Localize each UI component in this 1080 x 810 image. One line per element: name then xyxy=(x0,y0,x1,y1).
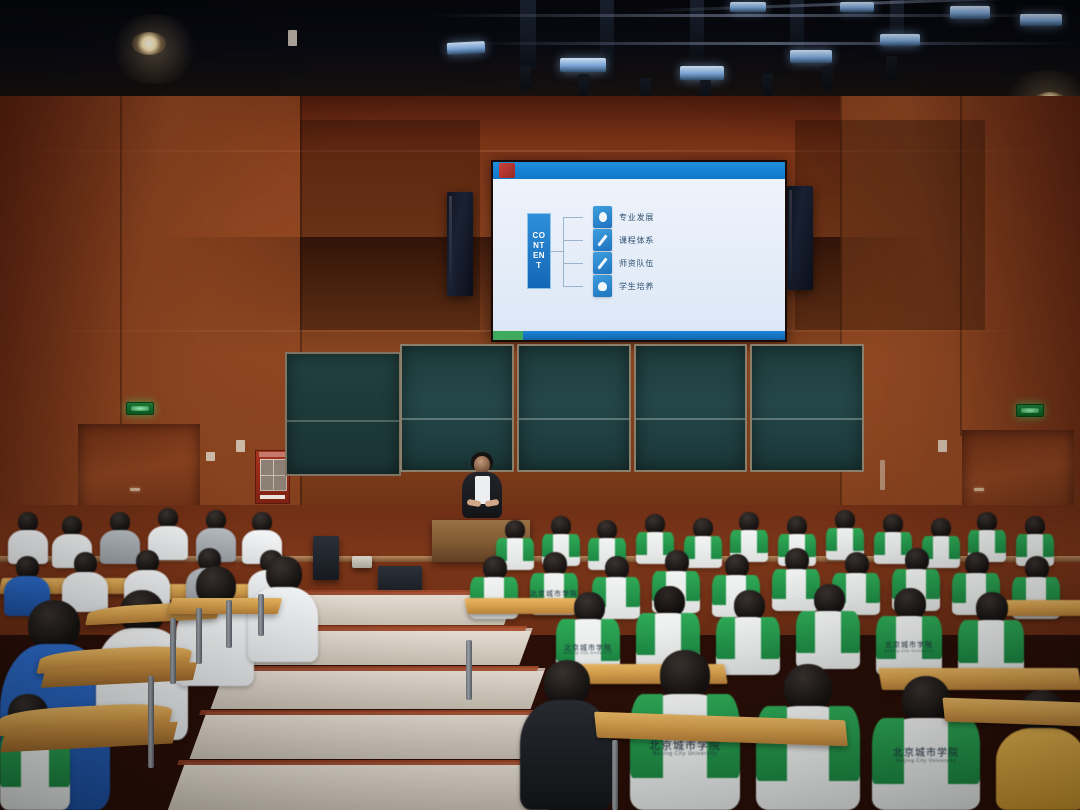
ceiling-beam xyxy=(600,0,614,62)
door-handle-icon xyxy=(974,488,984,491)
head xyxy=(505,520,525,540)
wall-seam xyxy=(120,96,122,436)
head xyxy=(835,510,855,530)
aisle-tile-stripe xyxy=(199,710,549,715)
torso-uniform: 北京城市学院 Beijing City University xyxy=(876,616,942,676)
tree-branch xyxy=(563,286,583,287)
slide-connector-tree xyxy=(551,207,595,295)
tree-branch xyxy=(563,263,583,264)
uniform-print: 北京城市学院 Beijing City University xyxy=(630,740,740,757)
exit-sign-right-icon xyxy=(1016,404,1044,417)
head xyxy=(18,512,38,532)
tree-spine xyxy=(563,217,564,287)
head xyxy=(739,512,759,532)
stage-light xyxy=(730,2,766,12)
head xyxy=(28,600,80,650)
spotlight-can xyxy=(578,74,589,98)
aisle-step xyxy=(167,762,566,810)
ceiling-fixture xyxy=(288,30,297,46)
audience-member: 北京城市学院 Beijing City University xyxy=(876,588,942,678)
chalkboard-left xyxy=(285,352,401,476)
uniform-print: 北京城市学院 Beijing City University xyxy=(872,749,980,764)
content-tab-label: CONTENT xyxy=(533,231,546,271)
stage-light xyxy=(880,34,920,46)
spotlight-can xyxy=(822,66,833,90)
torso-uniform: 北京城市学院 Beijing City University xyxy=(872,718,980,810)
slide-item-label: 师资队伍 xyxy=(619,258,654,269)
slide-item-label: 学生培养 xyxy=(619,281,654,292)
wall-switch-plate xyxy=(236,440,245,452)
uniform-name-en: Beijing City University xyxy=(876,650,942,654)
spotlight-can xyxy=(762,74,773,98)
tree-branch xyxy=(563,217,583,218)
pen-icon xyxy=(593,229,612,251)
door-handle-icon xyxy=(130,488,140,491)
slide-item-1: 课程体系 xyxy=(593,229,654,251)
uniform-print: 北京城市学院 Beijing City University xyxy=(556,645,620,656)
desk-leg xyxy=(148,676,154,768)
cabinet-handle xyxy=(260,495,285,499)
desk xyxy=(942,698,1080,727)
slide-content-tab: CONTENT xyxy=(527,213,551,289)
audience-member: 北京城市学院 Beijing City University xyxy=(872,676,980,810)
head xyxy=(597,520,617,540)
slide-body: CONTENT 专业发展 课程体系 xyxy=(493,179,785,331)
cabinet-label xyxy=(259,452,286,457)
tree-branch xyxy=(563,240,583,241)
head xyxy=(787,516,807,536)
head xyxy=(784,664,832,712)
aisle-tile-stripe xyxy=(177,760,557,765)
uniform-name-en: Beijing City University xyxy=(872,760,980,765)
desk xyxy=(168,598,283,614)
head xyxy=(693,518,713,538)
desk-leg xyxy=(466,640,472,700)
pen-icon xyxy=(593,252,612,274)
uniform-name-en: Beijing City University xyxy=(630,752,740,757)
projection-screen-frame: CONTENT 专业发展 课程体系 xyxy=(491,160,787,342)
slide-logo-icon xyxy=(499,163,515,178)
aisle-step xyxy=(211,668,546,709)
head xyxy=(252,512,272,532)
slide-header-band xyxy=(493,162,785,179)
uniform-name-en: Beijing City University xyxy=(556,652,620,656)
chalkboard-panel xyxy=(750,344,864,472)
slide-item-label: 课程体系 xyxy=(619,235,654,246)
cabinet-window xyxy=(260,459,287,491)
head xyxy=(158,508,178,528)
projection-screen: CONTENT 专业发展 课程体系 xyxy=(493,162,785,340)
head xyxy=(977,512,997,532)
head xyxy=(660,650,710,700)
audience-member xyxy=(796,584,860,672)
slide-item-label: 专业发展 xyxy=(619,212,654,223)
head xyxy=(551,516,571,536)
ceiling-beam xyxy=(520,0,536,70)
aisle-step xyxy=(189,712,556,759)
chalkboard-panel xyxy=(517,344,631,472)
wall-switch-plate xyxy=(206,452,215,461)
exit-sign-left-icon xyxy=(126,402,154,415)
wall-switch-plate xyxy=(938,440,947,452)
stage-light xyxy=(447,41,486,55)
head xyxy=(206,510,226,530)
speaker-right xyxy=(787,186,813,290)
spotlight-can xyxy=(520,66,531,90)
spotlight-can xyxy=(886,56,897,80)
head xyxy=(1025,516,1045,536)
head xyxy=(931,518,951,538)
desk-leg xyxy=(258,594,264,636)
desk-leg xyxy=(170,618,176,684)
wall-conduit xyxy=(880,460,885,490)
slide-footer-band xyxy=(493,331,785,340)
stage-light xyxy=(840,2,874,12)
torso-uniform xyxy=(796,611,860,669)
lighting-truss xyxy=(470,42,1080,45)
chalkboard-panel xyxy=(634,344,748,472)
desk-leg xyxy=(196,608,202,664)
desk-leg xyxy=(226,600,232,648)
cable-coil xyxy=(352,556,372,568)
uniform-print: 北京城市学院 Beijing City University xyxy=(876,642,942,653)
desk-leg xyxy=(612,740,618,810)
slide-item-3: 学生培养 xyxy=(593,275,654,297)
lightbulb-icon xyxy=(593,206,612,228)
ceiling-spotlight xyxy=(132,32,166,55)
stage-light xyxy=(790,50,832,63)
head xyxy=(645,514,665,534)
stage-light xyxy=(560,58,606,72)
torso-uniform: 北京城市学院 Beijing City University xyxy=(630,694,740,810)
aisle-tile-stripe xyxy=(219,666,539,671)
head xyxy=(62,516,82,536)
head xyxy=(883,514,903,534)
speaker-left xyxy=(447,192,473,296)
head xyxy=(110,512,130,532)
slide-item-0: 专业发展 xyxy=(593,206,654,228)
slide-item-2: 师资队伍 xyxy=(593,252,654,274)
wall-panel xyxy=(795,120,985,330)
stage-light xyxy=(950,6,990,19)
lecture-hall-photo: CONTENT 专业发展 课程体系 xyxy=(0,0,1080,810)
graduation-icon xyxy=(593,275,612,297)
torso xyxy=(996,728,1080,810)
stage-light xyxy=(1020,14,1062,26)
stage-light xyxy=(680,66,724,80)
